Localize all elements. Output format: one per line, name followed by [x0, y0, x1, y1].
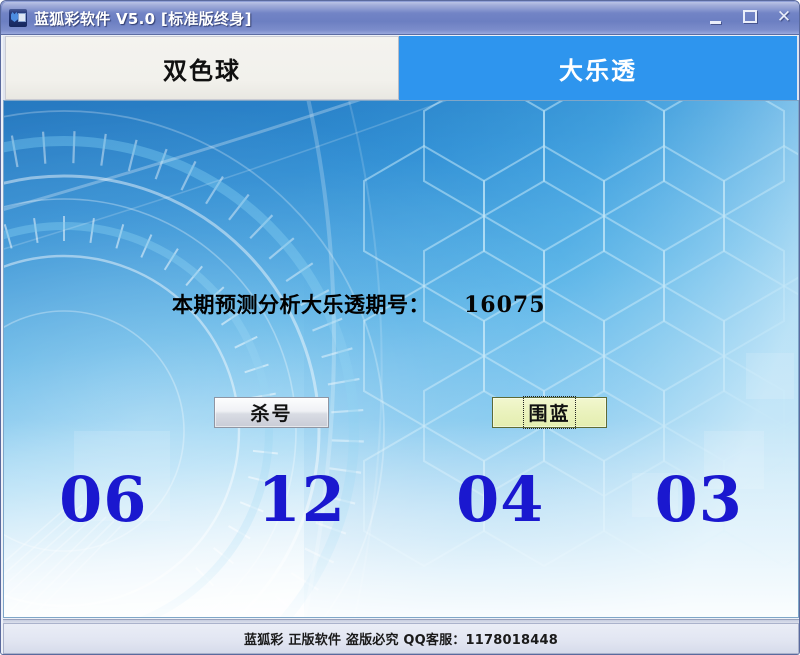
status-bar-text: 蓝狐彩 正版软件 盗版必究 QQ客服：1178018448: [244, 629, 558, 648]
tab-shuangseqiu-label: 双色球: [163, 51, 241, 86]
maximize-icon: [743, 10, 757, 23]
predicted-number: 12: [203, 469, 402, 531]
surround-blue-button-label: 围蓝: [523, 396, 575, 429]
window-controls: ✕: [705, 5, 795, 29]
predicted-number: 04: [401, 469, 600, 531]
period-value: 16075: [464, 292, 546, 318]
minimize-button[interactable]: [705, 6, 727, 28]
kill-number-button-label: 杀号: [250, 399, 292, 426]
surround-blue-button[interactable]: 围蓝: [492, 397, 607, 428]
window-title: 蓝狐彩软件 V5.0 [标准版终身]: [34, 8, 252, 29]
title-bar[interactable]: 蓝狐彩软件 V5.0 [标准版终身] ✕: [1, 1, 800, 35]
predicted-number: 03: [600, 469, 799, 531]
minimize-icon: [710, 21, 721, 24]
period-label: 本期预测分析大乐透期号：: [172, 289, 430, 319]
app-window: 蓝狐彩软件 V5.0 [标准版终身] ✕ 双色球 大乐透: [0, 0, 800, 655]
content-area: 本期预测分析大乐透期号： 16075 杀号 围蓝 06 12 04 03: [3, 100, 799, 618]
app-icon: [9, 9, 27, 27]
tab-daletou[interactable]: 大乐透: [399, 36, 797, 100]
period-line: 本期预测分析大乐透期号： 16075: [172, 289, 546, 319]
close-button[interactable]: ✕: [773, 6, 795, 28]
fox-glyph: [11, 12, 18, 22]
predicted-numbers-row: 06 12 04 03: [4, 469, 798, 531]
kill-number-button[interactable]: 杀号: [214, 397, 329, 428]
background-graphic: [4, 101, 798, 617]
status-bar: 蓝狐彩 正版软件 盗版必究 QQ客服：1178018448: [3, 623, 799, 654]
predicted-number: 06: [4, 469, 203, 531]
tab-strip: 双色球 大乐透: [3, 36, 799, 100]
tab-daletou-label: 大乐透: [559, 51, 637, 86]
close-icon: ✕: [773, 6, 795, 28]
tab-shuangseqiu[interactable]: 双色球: [5, 36, 399, 100]
maximize-button[interactable]: [739, 6, 761, 28]
card-glyph: [18, 13, 26, 22]
